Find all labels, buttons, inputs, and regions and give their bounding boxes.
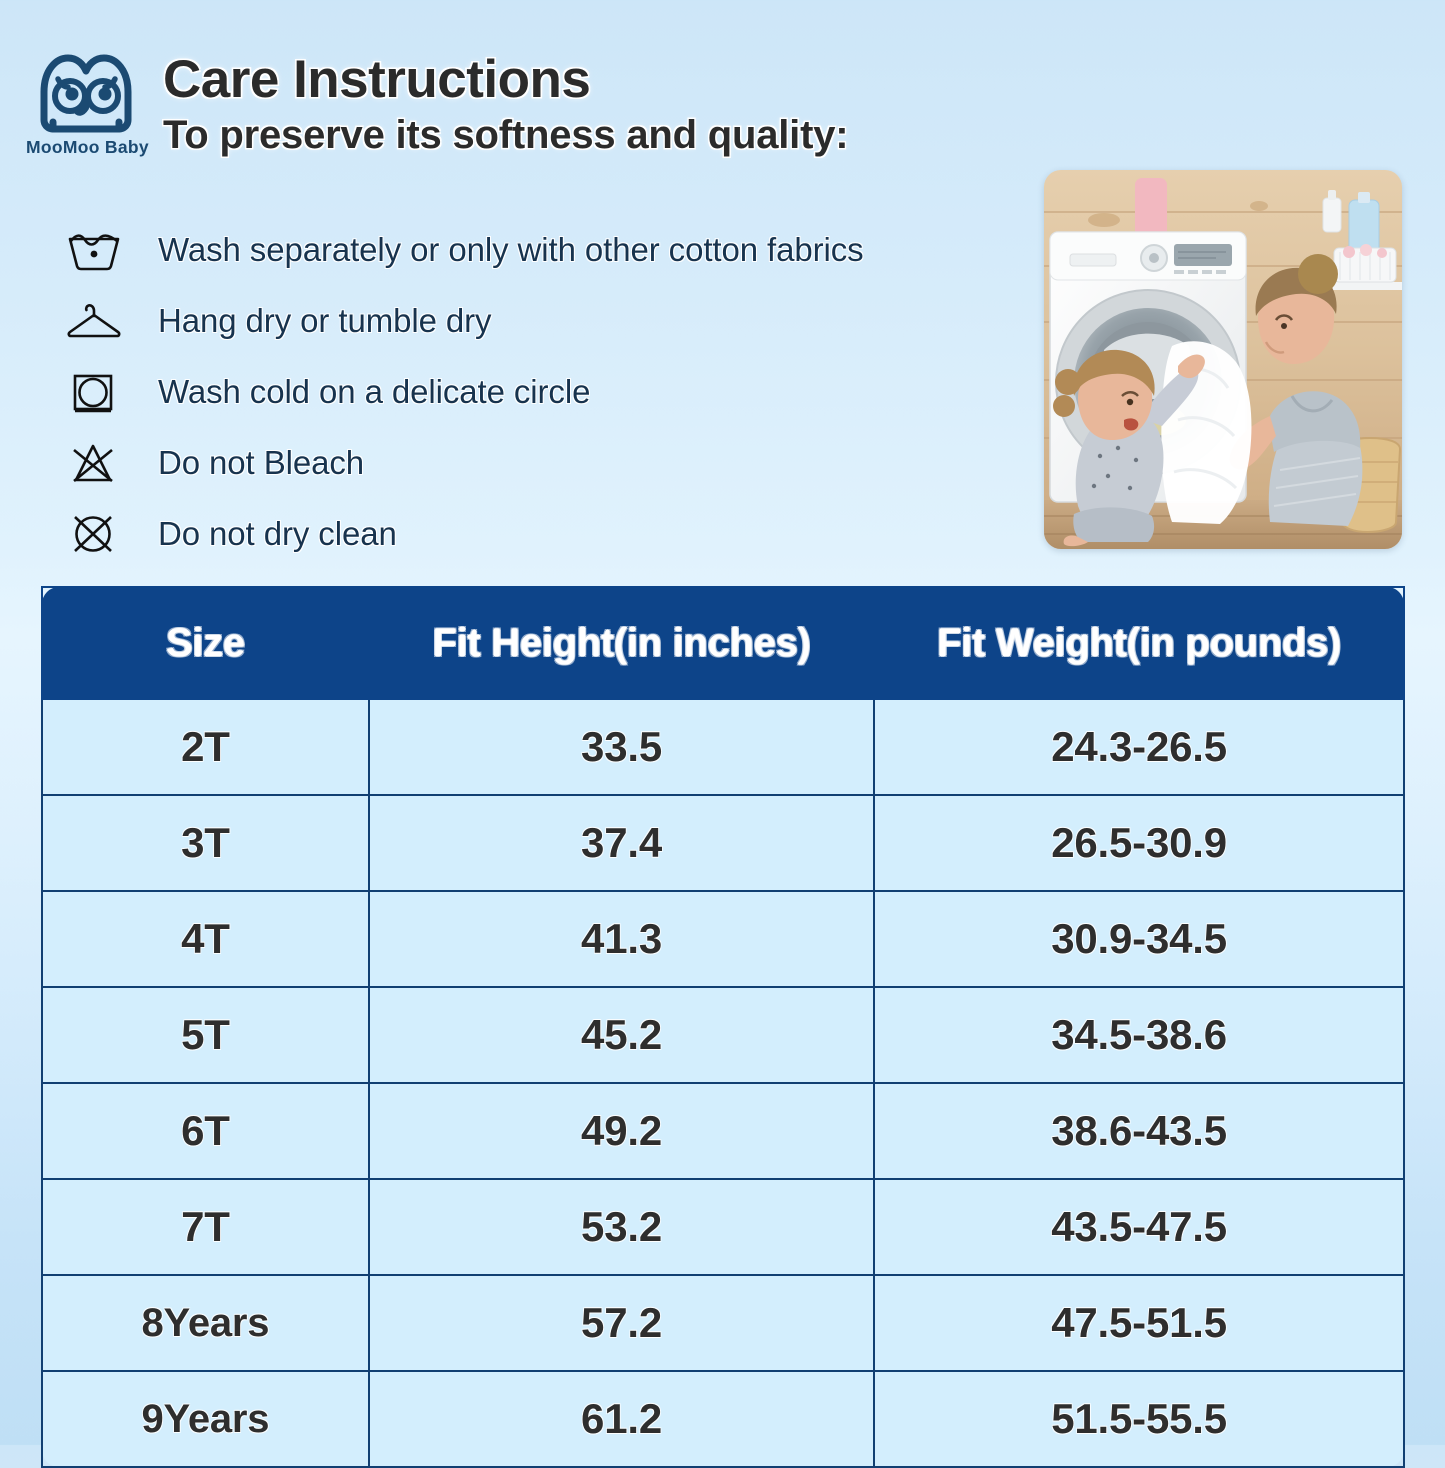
title-block: Care Instructions To preserve its softne… — [163, 52, 848, 157]
care-item-wash-cold: Wash cold on a delicate circle — [66, 356, 1046, 427]
care-item-do-not-bleach: Do not Bleach — [66, 427, 1046, 498]
care-item-label: Do not dry clean — [158, 515, 397, 553]
cell-height: 53.2 — [369, 1179, 874, 1275]
care-item-label: Do not Bleach — [158, 444, 364, 482]
cell-size: 4T — [42, 891, 369, 987]
care-instruction-list: Wash separately or only with other cotto… — [66, 214, 1046, 569]
column-header-size: Size — [42, 587, 369, 699]
brand-name: MooMoo Baby — [26, 137, 146, 158]
cell-size: 5T — [42, 987, 369, 1083]
cell-weight: 26.5-30.9 — [874, 795, 1404, 891]
care-item-hang-dry: Hang dry or tumble dry — [66, 285, 1046, 356]
cell-height: 49.2 — [369, 1083, 874, 1179]
table-row: 6T 49.2 38.6-43.5 — [42, 1083, 1404, 1179]
table-row: 2T 33.5 24.3-26.5 — [42, 699, 1404, 795]
cell-weight: 47.5-51.5 — [874, 1275, 1404, 1371]
do-not-dry-clean-icon — [66, 508, 128, 560]
owl-logo-icon — [34, 52, 138, 136]
cell-weight: 30.9-34.5 — [874, 891, 1404, 987]
cell-weight: 24.3-26.5 — [874, 699, 1404, 795]
table-row: 3T 37.4 26.5-30.9 — [42, 795, 1404, 891]
table-row: 9Years 61.2 51.5-55.5 — [42, 1371, 1404, 1467]
cell-size: 9Years — [42, 1371, 369, 1467]
table-row: 7T 53.2 43.5-47.5 — [42, 1179, 1404, 1275]
table-header-row: Size Fit Height(in inches) Fit Weight(in… — [42, 587, 1404, 699]
tumble-dry-icon — [66, 366, 128, 418]
cell-size: 6T — [42, 1083, 369, 1179]
table-row: 4T 41.3 30.9-34.5 — [42, 891, 1404, 987]
cell-weight: 43.5-47.5 — [874, 1179, 1404, 1275]
cell-weight: 51.5-55.5 — [874, 1371, 1404, 1467]
care-item-wash-separately: Wash separately or only with other cotto… — [66, 214, 1046, 285]
cell-height: 33.5 — [369, 699, 874, 795]
clothes-hanger-icon — [66, 295, 128, 347]
wash-tub-icon — [66, 224, 128, 276]
cell-height: 57.2 — [369, 1275, 874, 1371]
cell-height: 37.4 — [369, 795, 874, 891]
size-chart-table: Size Fit Height(in inches) Fit Weight(in… — [41, 586, 1405, 1468]
do-not-bleach-icon — [66, 437, 128, 489]
page-header: MooMoo Baby Care Instructions To preserv… — [0, 0, 1445, 185]
cell-size: 8Years — [42, 1275, 369, 1371]
page-title: Care Instructions — [163, 52, 848, 107]
laundry-photo-illustration — [1044, 170, 1402, 549]
table-row: 8Years 57.2 47.5-51.5 — [42, 1275, 1404, 1371]
care-item-label: Wash separately or only with other cotto… — [158, 231, 864, 269]
cell-weight: 38.6-43.5 — [874, 1083, 1404, 1179]
cell-size: 7T — [42, 1179, 369, 1275]
cell-size: 3T — [42, 795, 369, 891]
cell-weight: 34.5-38.6 — [874, 987, 1404, 1083]
cell-size: 2T — [42, 699, 369, 795]
page-subtitle: To preserve its softness and quality: — [163, 113, 848, 157]
column-header-height: Fit Height(in inches) — [369, 587, 874, 699]
care-item-label: Wash cold on a delicate circle — [158, 373, 590, 411]
care-item-do-not-dry-clean: Do not dry clean — [66, 498, 1046, 569]
table-row: 5T 45.2 34.5-38.6 — [42, 987, 1404, 1083]
column-header-weight: Fit Weight(in pounds) — [874, 587, 1404, 699]
care-item-label: Hang dry or tumble dry — [158, 302, 491, 340]
cell-height: 41.3 — [369, 891, 874, 987]
cell-height: 45.2 — [369, 987, 874, 1083]
cell-height: 61.2 — [369, 1371, 874, 1467]
brand-logo: MooMoo Baby — [26, 52, 146, 158]
laundry-photo — [1044, 170, 1402, 549]
